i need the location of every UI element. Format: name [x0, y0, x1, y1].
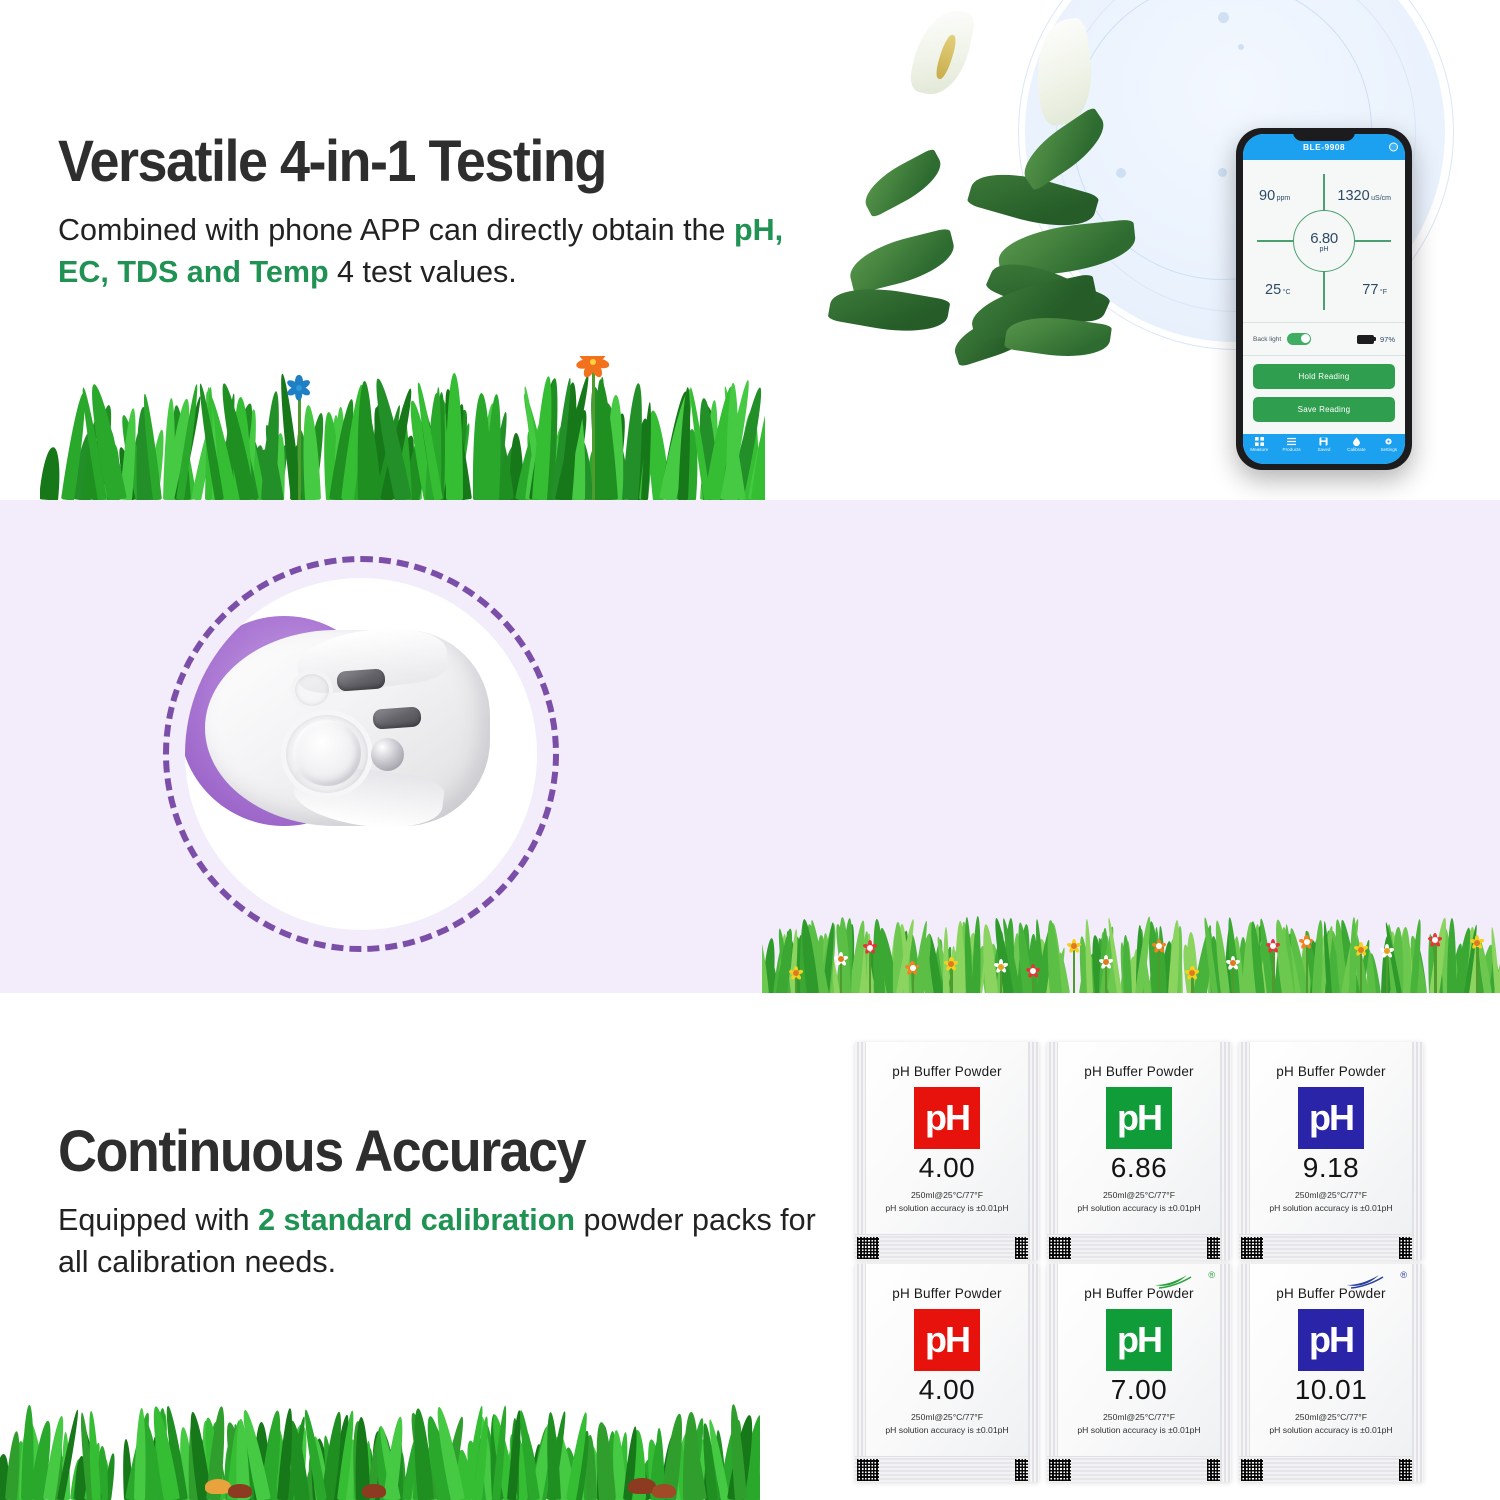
grass-band-top [40, 356, 765, 500]
phone-notch [1293, 128, 1355, 141]
flower-center [1358, 947, 1364, 953]
ph-badge: pH [914, 1087, 980, 1149]
packet-tear-notch-right [1399, 1237, 1421, 1259]
phone-screen: BLE-9908 90 ppm 1320 uS/cm 25 [1243, 134, 1405, 464]
mushroom [652, 1484, 676, 1498]
flower [1223, 953, 1243, 973]
packet-ph-value: 7.00 [1111, 1374, 1168, 1406]
packet-tear-notch-right [1399, 1459, 1421, 1481]
tab-saved[interactable]: Saved [1308, 437, 1340, 452]
probe-glass-bulb [293, 720, 361, 786]
bottom-tab-bar: Measure Products Saved Calibrate [1243, 434, 1405, 464]
packet-spec-line1: 250ml@25°C/77°F [855, 1189, 1039, 1201]
grass-blade [40, 446, 63, 500]
app-title: BLE-9908 [1303, 142, 1345, 152]
flower [1023, 961, 1043, 981]
probe-temperature-sensor [371, 738, 404, 771]
section-sensitive-probe: Sensitive & Stable Probe With ATC functi… [0, 500, 1500, 993]
buffer-packet: ®pH Buffer PowderpH10.01250ml@25°C/77°Fp… [1239, 1264, 1423, 1482]
probe-electrode-2 [372, 706, 421, 729]
page-title-accuracy: Continuous Accuracy [58, 1122, 765, 1183]
tab-products[interactable]: Products [1275, 437, 1307, 452]
packet-ph-value: 4.00 [919, 1152, 976, 1184]
packet-tear-notch-left [857, 1237, 879, 1259]
flower-center [910, 965, 916, 971]
backlight-toggle[interactable] [1287, 333, 1311, 345]
ph-badge: pH [1106, 1087, 1172, 1149]
flower-stem [869, 952, 872, 993]
packet-crimp [1239, 1456, 1423, 1482]
packet-spec-line1: 250ml@25°C/77°F [1047, 1411, 1231, 1423]
page-title-testing: Versatile 4-in-1 Testing [58, 132, 765, 193]
grass-blade [472, 393, 491, 500]
packet-tear-notch-left [1049, 1237, 1071, 1259]
tab-settings-label: Settings [1380, 447, 1397, 452]
packet-title: pH Buffer Powder [1276, 1064, 1386, 1079]
battery-status: 97% [1357, 335, 1395, 344]
ec-value: 1320 [1337, 188, 1369, 204]
tab-saved-label: Saved [1317, 447, 1330, 452]
packet-ph-value: 9.18 [1303, 1152, 1360, 1184]
flower [1377, 941, 1397, 961]
flower [786, 963, 806, 983]
reading-tds: 90 ppm [1259, 188, 1290, 204]
flower-center [838, 956, 844, 962]
reading-ph-circle: 6.80 pH [1293, 210, 1355, 272]
flower-stem [298, 392, 301, 500]
accuracy-desc-prefix: Equipped with [58, 1203, 258, 1237]
buffer-packets-group: pH Buffer PowderpH4.00250ml@25°C/77°FpH … [855, 1042, 1455, 1492]
packet-tear-notch-right [1015, 1237, 1037, 1259]
accuracy-text-block: Continuous Accuracy Equipped with 2 stan… [58, 1122, 818, 1283]
action-button-stack: Hold Reading Save Reading [1243, 356, 1405, 434]
probe-electrode-1 [336, 668, 385, 691]
packet-spec-line2: pH solution accuracy is ±0.01pH [1047, 1202, 1231, 1214]
ph-unit: pH [1320, 246, 1329, 253]
reading-ec: 1320 uS/cm [1337, 188, 1391, 204]
grass-blade [446, 373, 463, 500]
flower [1467, 933, 1487, 953]
section-continuous-accuracy: Continuous Accuracy Equipped with 2 stan… [0, 993, 1500, 1500]
buffer-packet: pH Buffer PowderpH4.00250ml@25°C/77°FpH … [855, 1264, 1039, 1482]
packet-title: pH Buffer Powder [892, 1286, 1002, 1301]
section-versatile-testing: Versatile 4-in-1 Testing Combined with p… [0, 0, 1500, 500]
flower [1064, 936, 1084, 956]
buffer-packet: pH Buffer PowderpH9.18250ml@25°C/77°FpH … [1239, 1042, 1423, 1260]
packet-spec-line1: 250ml@25°C/77°F [1239, 1189, 1423, 1201]
gear-icon [1384, 437, 1393, 446]
flower [1149, 936, 1169, 956]
packet-spec: 250ml@25°C/77°FpH solution accuracy is ±… [1239, 1189, 1423, 1214]
flower-stem [1434, 944, 1437, 993]
packet-tear-notch-right [1207, 1459, 1229, 1481]
mushroom [362, 1484, 386, 1498]
smartphone-device: BLE-9908 90 ppm 1320 uS/cm 25 [1236, 128, 1412, 470]
flower [991, 957, 1011, 977]
blue-swoosh-logo-icon: ® [1345, 1272, 1407, 1294]
hold-reading-button[interactable]: Hold Reading [1253, 364, 1395, 389]
packet-ph-value: 4.00 [919, 1374, 976, 1406]
flower-center [1474, 940, 1480, 946]
grass-blade [1121, 935, 1131, 993]
probe-vent-ring [291, 670, 333, 710]
grass-band-bottom [0, 1404, 760, 1500]
flower [903, 958, 923, 978]
tab-measure[interactable]: Measure [1243, 437, 1275, 452]
grass-band-middle [762, 906, 1500, 993]
save-reading-button[interactable]: Save Reading [1253, 397, 1395, 422]
testing-desc-suffix: 4 test values. [329, 255, 517, 289]
bluetooth-dot-1 [1218, 12, 1229, 23]
probe-closeup-photo [163, 556, 559, 952]
bluetooth-dot-3 [1218, 168, 1227, 177]
buffer-packet: ®pH Buffer PowderpH7.00250ml@25°C/77°FpH… [1047, 1264, 1231, 1482]
battery-percent: 97% [1380, 335, 1395, 344]
save-icon [1319, 437, 1328, 446]
packet-ph-value: 10.01 [1295, 1374, 1368, 1406]
packet-tear-notch-left [857, 1459, 879, 1481]
flower-center [998, 964, 1004, 970]
flower-stem [592, 366, 595, 500]
flower [860, 938, 880, 958]
dropper-icon [1352, 437, 1361, 446]
tab-products-label: Products [1283, 447, 1301, 452]
testing-text-block: Versatile 4-in-1 Testing Combined with p… [58, 132, 818, 293]
flower [1096, 952, 1116, 972]
temp-c-value: 25 [1265, 282, 1281, 298]
flower [1425, 930, 1445, 950]
flower-center [1103, 959, 1109, 965]
temp-f-unit: °F [1380, 289, 1387, 296]
packet-title: pH Buffer Powder [892, 1064, 1002, 1079]
tab-calibrate-label: Calibrate [1347, 447, 1365, 452]
packet-tear-notch-right [1015, 1459, 1037, 1481]
flower [289, 378, 309, 398]
temp-c-unit: °C [1283, 289, 1291, 296]
grass-blade [21, 1405, 35, 1500]
buffer-packet: pH Buffer PowderpH6.86250ml@25°C/77°FpH … [1047, 1042, 1231, 1260]
ph-badge: pH [1298, 1087, 1364, 1149]
packet-crimp [855, 1234, 1039, 1260]
plant-leaf-2 [827, 280, 950, 340]
tab-calibrate[interactable]: Calibrate [1340, 437, 1372, 452]
accuracy-description: Equipped with 2 standard calibration pow… [58, 1199, 818, 1283]
reading-temp-f: 77 °F [1362, 282, 1387, 298]
flower [941, 954, 961, 974]
testing-desc-prefix: Combined with phone APP can directly obt… [58, 213, 734, 247]
packet-spec: 250ml@25°C/77°FpH solution accuracy is ±… [1047, 1411, 1231, 1436]
bluetooth-dot-2 [1116, 168, 1126, 178]
flower-center [793, 970, 799, 976]
packet-tear-notch-right [1207, 1237, 1229, 1259]
packet-spec-line2: pH solution accuracy is ±0.01pH [1239, 1424, 1423, 1436]
flower [1263, 936, 1283, 956]
packet-spec-line1: 250ml@25°C/77°F [1047, 1189, 1231, 1201]
flower [1351, 940, 1371, 960]
flower [831, 949, 851, 969]
plant-leaf-3 [857, 148, 949, 218]
flower-stem [1073, 950, 1076, 993]
product-photo-testing: uS/cm BLE 1320 77.0 CAL HOLD PWR BLE-990… [820, 0, 1500, 500]
accuracy-desc-highlight: 2 standard calibration [258, 1203, 575, 1237]
flower-stem [1272, 950, 1275, 993]
packet-crimp [1239, 1234, 1423, 1260]
flower-stem [1476, 947, 1479, 993]
flower [1297, 932, 1317, 952]
flower-center [296, 385, 302, 391]
flower-stem [1158, 950, 1161, 993]
packet-tear-notch-left [1049, 1459, 1071, 1481]
packet-spec-line1: 250ml@25°C/77°F [1239, 1411, 1423, 1423]
battery-icon [1357, 335, 1374, 344]
packet-tear-notch-left [1241, 1237, 1263, 1259]
packet-spec: 250ml@25°C/77°FpH solution accuracy is ±… [1047, 1189, 1231, 1214]
mushroom [228, 1484, 252, 1498]
app-menu-icon[interactable] [1389, 143, 1398, 152]
flower-center [1304, 939, 1310, 945]
packet-row-top: pH Buffer PowderpH4.00250ml@25°C/77°FpH … [855, 1042, 1455, 1260]
packet-crimp [855, 1456, 1039, 1482]
buffer-packet: pH Buffer PowderpH4.00250ml@25°C/77°FpH … [855, 1042, 1039, 1260]
temp-f-value: 77 [1362, 282, 1378, 298]
green-leaf-logo-icon: ® [1153, 1272, 1215, 1294]
packet-spec-line2: pH solution accuracy is ±0.01pH [1047, 1424, 1231, 1436]
flower-center [590, 359, 596, 365]
flower-center [867, 945, 873, 951]
ph-badge: pH [914, 1309, 980, 1371]
packet-crimp [1047, 1456, 1231, 1482]
plant-leaf-1 [845, 228, 960, 295]
flower [583, 356, 603, 372]
packet-spec-line2: pH solution accuracy is ±0.01pH [855, 1202, 1039, 1214]
packet-spec: 250ml@25°C/77°FpH solution accuracy is ±… [855, 1411, 1039, 1436]
packet-spec: 250ml@25°C/77°FpH solution accuracy is ±… [855, 1189, 1039, 1214]
ph-badge: pH [1298, 1309, 1364, 1371]
probe-photo-inner [185, 578, 537, 930]
ph-value: 6.80 [1310, 230, 1338, 247]
packet-title: pH Buffer Powder [1084, 1064, 1194, 1079]
tds-value: 90 [1259, 188, 1275, 204]
tab-settings[interactable]: Settings [1373, 437, 1405, 452]
flower [1182, 963, 1202, 983]
tab-measure-label: Measure [1250, 447, 1268, 452]
ph-badge: pH [1106, 1309, 1172, 1371]
measurement-readout: 90 ppm 1320 uS/cm 25 °C 77 °F [1243, 160, 1405, 322]
ec-unit: uS/cm [1371, 195, 1391, 202]
flower-stem [1306, 946, 1309, 993]
packet-spec-line2: pH solution accuracy is ±0.01pH [1239, 1202, 1423, 1214]
packet-row-bottom: pH Buffer PowderpH4.00250ml@25°C/77°FpH … [855, 1264, 1455, 1482]
testing-description: Combined with phone APP can directly obt… [58, 209, 818, 293]
grid-icon [1255, 437, 1264, 446]
bluetooth-dot-4 [1238, 44, 1244, 50]
packet-tear-notch-left [1241, 1459, 1263, 1481]
grass-blade [1447, 918, 1457, 993]
list-icon [1287, 437, 1296, 446]
packet-spec: 250ml@25°C/77°FpH solution accuracy is ±… [1239, 1411, 1423, 1436]
packet-crimp [1047, 1234, 1231, 1260]
packet-spec-line2: pH solution accuracy is ±0.01pH [855, 1424, 1039, 1436]
reading-temp-c: 25 °C [1265, 282, 1291, 298]
packet-spec-line1: 250ml@25°C/77°F [855, 1411, 1039, 1423]
tds-unit: ppm [1277, 195, 1291, 202]
controls-row: Back light 97% [1243, 322, 1405, 356]
packet-ph-value: 6.86 [1111, 1152, 1168, 1184]
backlight-label: Back light [1253, 336, 1281, 343]
